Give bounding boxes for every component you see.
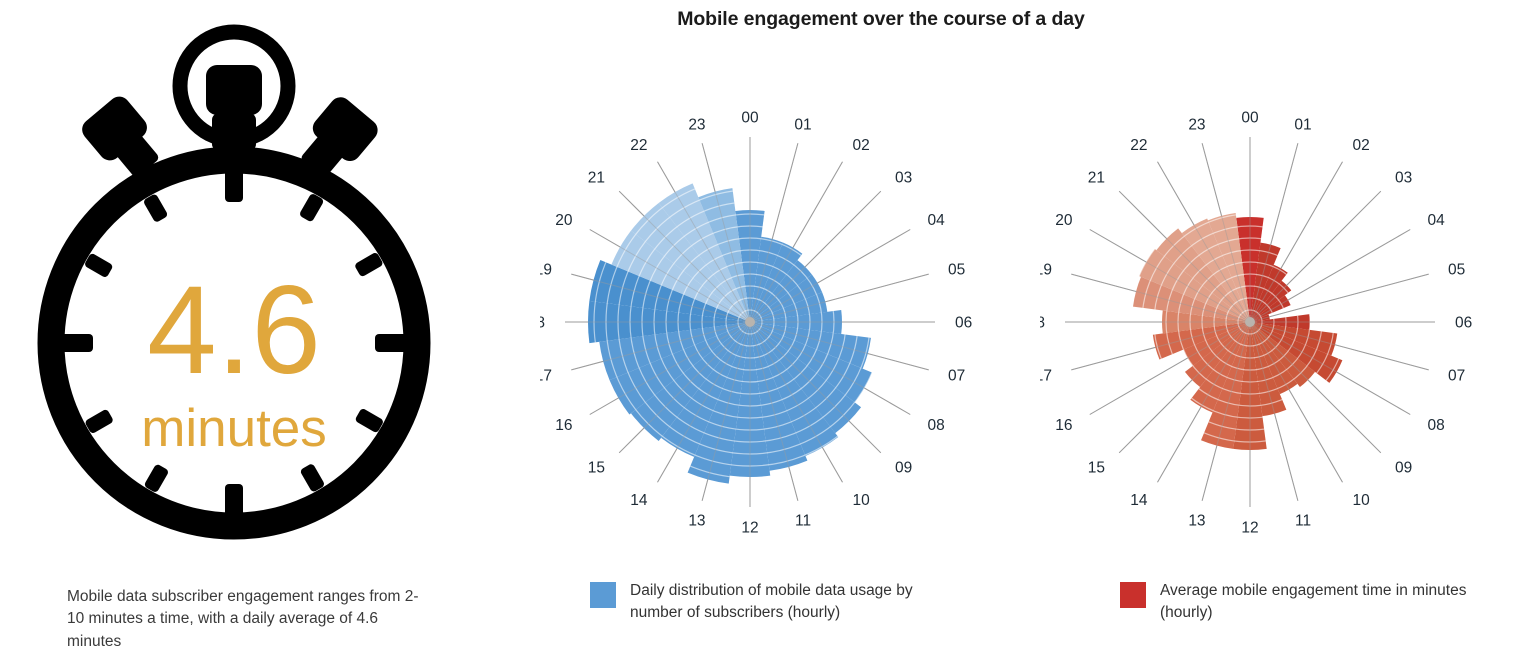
hour-label-17: 17: [540, 368, 552, 385]
hour-label-03: 03: [895, 170, 912, 187]
hour-label-19: 19: [1040, 261, 1052, 278]
hour-label-08: 08: [1428, 417, 1445, 434]
polar-center-hub: [1245, 317, 1255, 327]
stopwatch-unit: minutes: [141, 399, 327, 458]
hour-label-13: 13: [688, 513, 705, 530]
legend-swatch-blue: [590, 582, 616, 608]
hour-label-17: 17: [1040, 368, 1052, 385]
legend-red: Average mobile engagement time in minute…: [1120, 580, 1490, 624]
hour-label-14: 14: [630, 492, 648, 509]
hour-label-16: 16: [1055, 417, 1072, 434]
legend-swatch-red: [1120, 582, 1146, 608]
hour-label-00: 00: [741, 110, 759, 127]
hour-label-20: 20: [1055, 212, 1073, 229]
hour-label-04: 04: [1428, 212, 1446, 229]
infographic-page: Mobile engagement over the course of a d…: [0, 0, 1517, 672]
hour-label-22: 22: [1130, 137, 1147, 154]
hour-label-15: 15: [588, 459, 605, 476]
polar-center-hub: [745, 317, 755, 327]
hour-label-06: 06: [1455, 315, 1472, 332]
hour-label-21: 21: [588, 170, 605, 187]
hour-label-00: 00: [1241, 110, 1259, 127]
hour-label-10: 10: [1353, 492, 1371, 509]
hour-label-18: 18: [540, 315, 545, 332]
hour-label-02: 02: [853, 137, 870, 154]
hour-label-08: 08: [928, 417, 945, 434]
hour-label-01: 01: [1294, 116, 1311, 133]
stopwatch-crown-button[interactable]: [206, 65, 262, 115]
hour-label-23: 23: [688, 116, 705, 133]
hour-label-13: 13: [1188, 513, 1205, 530]
hour-label-16: 16: [555, 417, 572, 434]
stopwatch-graphic: 4.6 minutes Mobile data subscriber engag…: [22, 8, 442, 553]
hour-label-07: 07: [948, 368, 965, 385]
hour-label-09: 09: [895, 459, 912, 476]
legend-label-red: Average mobile engagement time in minute…: [1160, 580, 1490, 624]
polar-petals: [1133, 213, 1342, 450]
rose-chart-blue: 0001020304050607080910111213141516171819…: [540, 110, 1000, 550]
stopwatch-value: 4.6: [147, 261, 321, 400]
legend-blue: Daily distribution of mobile data usage …: [590, 580, 960, 624]
hour-label-14: 14: [1130, 492, 1148, 509]
legend-label-blue: Daily distribution of mobile data usage …: [630, 580, 960, 624]
hour-label-18: 18: [1040, 315, 1045, 332]
hour-label-23: 23: [1188, 116, 1205, 133]
hour-label-09: 09: [1395, 459, 1412, 476]
hour-label-11: 11: [795, 513, 811, 530]
hour-label-07: 07: [1448, 368, 1465, 385]
hour-label-19: 19: [540, 261, 552, 278]
hour-label-01: 01: [794, 116, 811, 133]
hour-label-05: 05: [948, 261, 965, 278]
stopwatch-crown-stem: [212, 113, 256, 151]
hour-label-04: 04: [928, 212, 946, 229]
hour-label-22: 22: [630, 137, 647, 154]
hour-label-20: 20: [555, 212, 573, 229]
hour-label-03: 03: [1395, 170, 1412, 187]
hour-label-15: 15: [1088, 459, 1105, 476]
hour-label-21: 21: [1088, 170, 1105, 187]
hour-label-06: 06: [955, 315, 972, 332]
hour-label-11: 11: [1295, 513, 1311, 530]
hour-label-05: 05: [1448, 261, 1465, 278]
hour-label-12: 12: [1241, 520, 1258, 537]
rose-chart-red: 0001020304050607080910111213141516171819…: [1040, 110, 1500, 550]
spoke-02: [1250, 162, 1343, 322]
hour-label-10: 10: [853, 492, 871, 509]
hour-label-12: 12: [741, 520, 758, 537]
stopwatch-icon: 4.6 minutes: [22, 8, 442, 553]
hour-label-02: 02: [1353, 137, 1370, 154]
stopwatch-caption: Mobile data subscriber engagement ranges…: [67, 586, 427, 653]
